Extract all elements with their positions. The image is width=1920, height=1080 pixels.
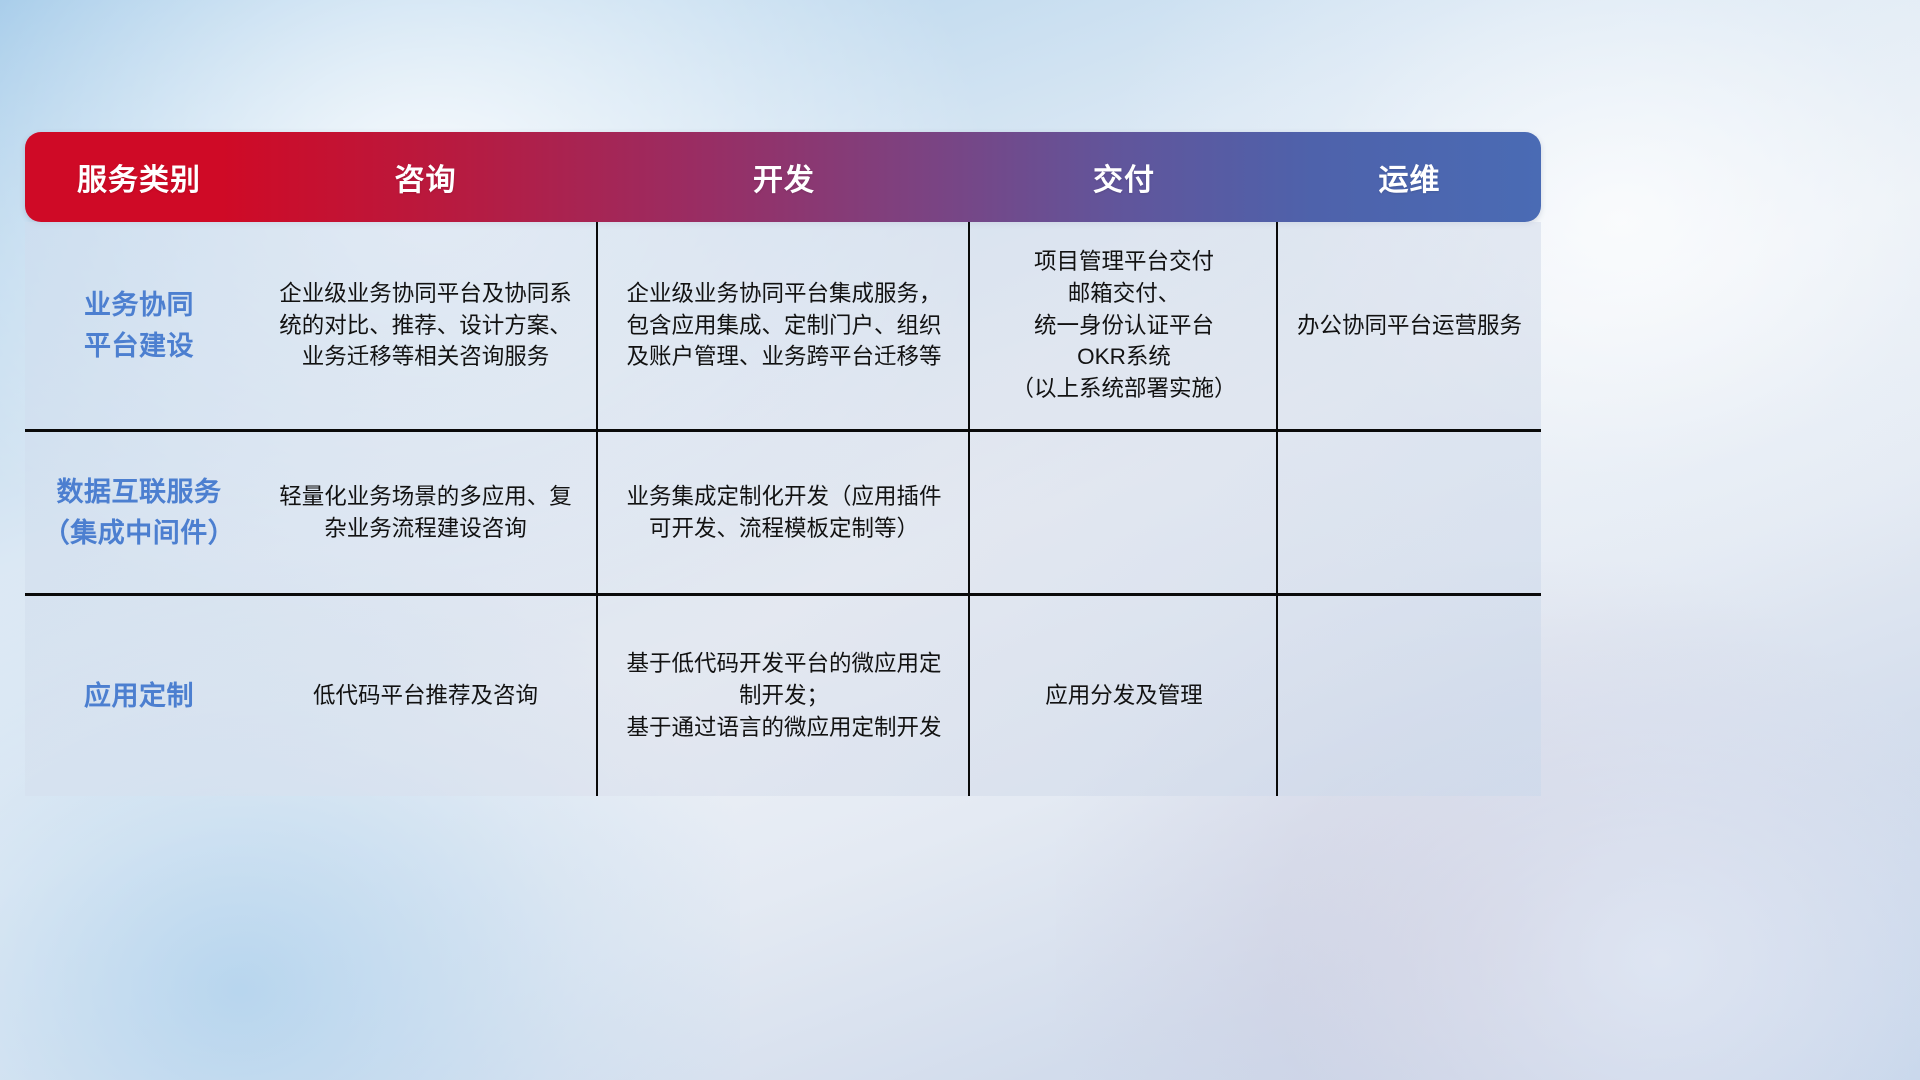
cell-operations [1278,432,1541,593]
row-category-label: 数据互联服务 （集成中间件） [25,432,253,593]
column-header-delivery: 交付 [970,132,1278,222]
cell-consulting: 企业级业务协同平台及协同系 统的对比、推荐、设计方案、 业务迁移等相关咨询服务 [253,222,598,429]
cell-operations [1278,596,1541,796]
cell-consulting: 低代码平台推荐及咨询 [253,596,598,796]
row-category-label: 业务协同 平台建设 [25,222,253,429]
table-row: 数据互联服务 （集成中间件） 轻量化业务场景的多应用、复 杂业务流程建设咨询 业… [25,429,1541,593]
cell-operations: 办公协同平台运营服务 [1278,222,1541,429]
cell-delivery [970,432,1278,593]
table-body: 业务协同 平台建设 企业级业务协同平台及协同系 统的对比、推荐、设计方案、 业务… [25,222,1541,796]
column-header-development: 开发 [598,132,970,222]
service-matrix-table: 服务类别 咨询 开发 交付 运维 业务协同 平台建设 企业级业务协同平台及协同系… [25,132,1541,796]
cell-development: 基于低代码开发平台的微应用定 制开发； 基于通过语言的微应用定制开发 [598,596,970,796]
cell-consulting: 轻量化业务场景的多应用、复 杂业务流程建设咨询 [253,432,598,593]
row-category-label: 应用定制 [25,596,253,796]
table-row: 应用定制 低代码平台推荐及咨询 基于低代码开发平台的微应用定 制开发； 基于通过… [25,593,1541,796]
table-row: 业务协同 平台建设 企业级业务协同平台及协同系 统的对比、推荐、设计方案、 业务… [25,222,1541,429]
column-header-consulting: 咨询 [253,132,598,222]
cell-delivery: 应用分发及管理 [970,596,1278,796]
column-header-category: 服务类别 [25,132,253,222]
cell-development: 企业级业务协同平台集成服务， 包含应用集成、定制门户、组织 及账户管理、业务跨平… [598,222,970,429]
table-header-row: 服务类别 咨询 开发 交付 运维 [25,132,1541,222]
column-header-operations: 运维 [1278,132,1541,222]
cell-development: 业务集成定制化开发（应用插件 可开发、流程模板定制等） [598,432,970,593]
cell-delivery: 项目管理平台交付 邮箱交付、 统一身份认证平台 OKR系统 （以上系统部署实施） [970,222,1278,429]
